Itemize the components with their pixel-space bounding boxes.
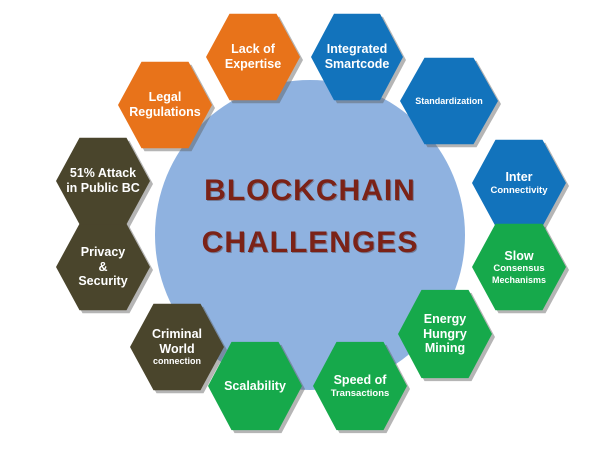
hexagon-label-line-2: Hungry <box>404 327 486 342</box>
hexagon-label-line-2: Regulations <box>124 105 206 120</box>
hexagon-label-line-1: Legal <box>124 90 206 105</box>
hexagon-label: EnergyHungryMining <box>404 312 486 356</box>
hexagon-label-line-1: Energy <box>404 312 486 327</box>
blockchain-challenges-diagram: BLOCKCHAIN CHALLENGES LegalRegulationsLa… <box>0 0 600 450</box>
hexagon-label: IntegratedSmartcode <box>317 42 397 72</box>
hexagon-label-line-1: Privacy <box>62 245 144 260</box>
hexagon-label: Standardization <box>406 96 492 107</box>
hexagon-label-line-2: in Public BC <box>62 181 144 196</box>
hexagon-label-line-2: Connectivity <box>478 185 560 196</box>
hexagon-label-line-1: Integrated <box>317 42 397 57</box>
hexagon-label: InterConnectivity <box>478 170 560 196</box>
hexagon-label-line-3: Mechanisms <box>478 275 560 286</box>
hexagon-label-line-2: World <box>136 342 218 357</box>
hexagon-label-line-2: Consensus <box>478 263 560 274</box>
hexagon-label: Scalability <box>214 379 296 394</box>
hexagon-label: CriminalWorldconnection <box>136 327 218 367</box>
hexagon-label: LegalRegulations <box>124 90 206 120</box>
hexagon-label: Lack ofExpertise <box>212 42 294 72</box>
hexagon-label: 51% Attackin Public BC <box>62 166 144 196</box>
hexagon-label-line-3: connection <box>136 356 218 367</box>
hexagon-label-line-2: Expertise <box>212 57 294 72</box>
hexagon-label-line-1: Lack of <box>212 42 294 57</box>
hexagon-label-line-2: & <box>62 260 144 275</box>
hexagon-label: Privacy&Security <box>62 245 144 289</box>
hexagon-label-line-1: Standardization <box>406 96 492 107</box>
hexagon-label-line-1: Slow <box>478 249 560 264</box>
hexagon-label-line-2: Transactions <box>319 388 401 399</box>
hexagon-label-line-2: Smartcode <box>317 57 397 72</box>
hexagon-label-line-3: Mining <box>404 341 486 356</box>
hexagon-label-line-3: Security <box>62 274 144 289</box>
hexagon-label-line-1: Inter <box>478 170 560 185</box>
hexagon-label-line-1: Scalability <box>214 379 296 394</box>
hexagon-label-line-1: Speed of <box>319 373 401 388</box>
hexagon-label: SlowConsensusMechanisms <box>478 249 560 286</box>
hexagon-label-line-1: Criminal <box>136 327 218 342</box>
hexagon-label-line-1: 51% Attack <box>62 166 144 181</box>
hexagon-label: Speed ofTransactions <box>319 373 401 399</box>
